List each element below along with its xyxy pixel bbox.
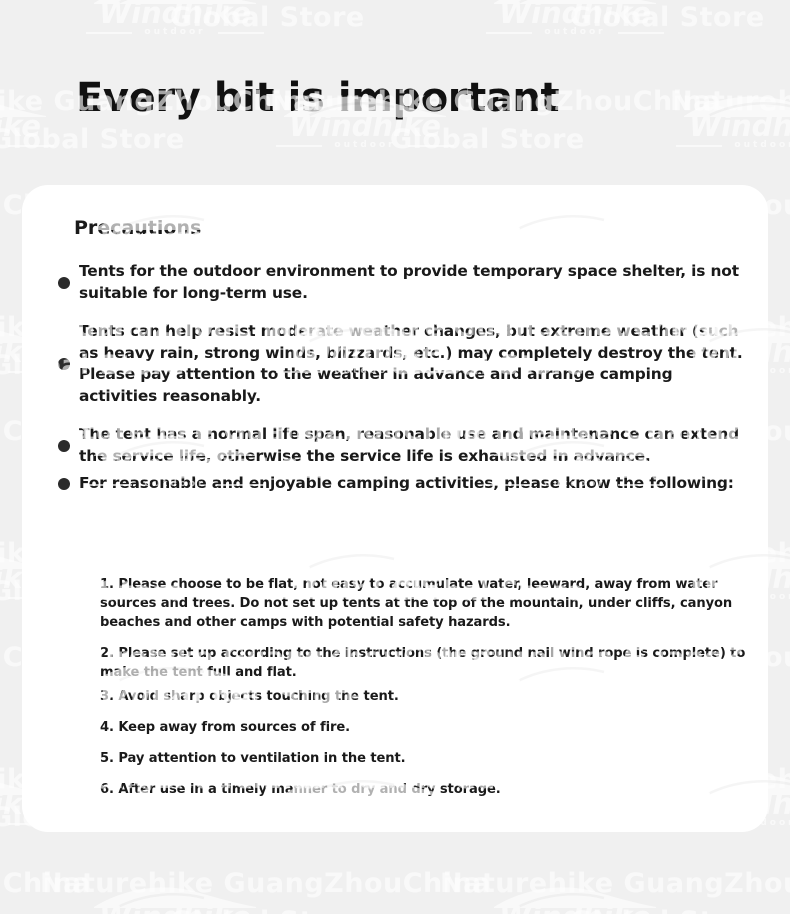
precaution-numbered-list: 1. Please choose to be flat, not easy to… xyxy=(100,575,772,799)
list-item: 2. Please set up according to the instru… xyxy=(100,644,772,682)
list-item: For reasonable and enjoyable camping act… xyxy=(58,473,746,495)
list-item: 4. Keep away from sources of fire. xyxy=(100,718,772,737)
precautions-card: Precautions Tents for the outdoor enviro… xyxy=(22,185,768,832)
list-item: The tent has a normal life span, reasona… xyxy=(58,424,746,467)
list-item: Tents can help resist moderate weather c… xyxy=(58,321,746,407)
list-item: 1. Please choose to be flat, not easy to… xyxy=(100,575,772,632)
bullet-text: Tents can help resist moderate weather c… xyxy=(79,321,746,407)
bullet-dot-icon xyxy=(58,277,70,289)
bullet-dot-icon xyxy=(58,478,70,490)
list-item: Tents for the outdoor environment to pro… xyxy=(58,261,746,304)
page-title: Every bit is important xyxy=(76,72,559,124)
bullet-dot-icon xyxy=(58,358,70,370)
page-root: Every bit is important Precautions Tents… xyxy=(0,0,790,914)
card-heading: Precautions xyxy=(74,217,201,239)
bullet-text: For reasonable and enjoyable camping act… xyxy=(79,473,746,495)
precaution-bullet-list: Tents for the outdoor environment to pro… xyxy=(58,261,746,512)
bullet-dot-icon xyxy=(58,440,70,452)
bullet-text: The tent has a normal life span, reasona… xyxy=(79,424,746,467)
list-item: 6. After use in a timely manner to dry a… xyxy=(100,780,772,799)
bullet-text: Tents for the outdoor environment to pro… xyxy=(79,261,746,304)
list-item: 3. Avoid sharp objects touching the tent… xyxy=(100,687,772,706)
list-item: 5. Pay attention to ventilation in the t… xyxy=(100,749,772,768)
